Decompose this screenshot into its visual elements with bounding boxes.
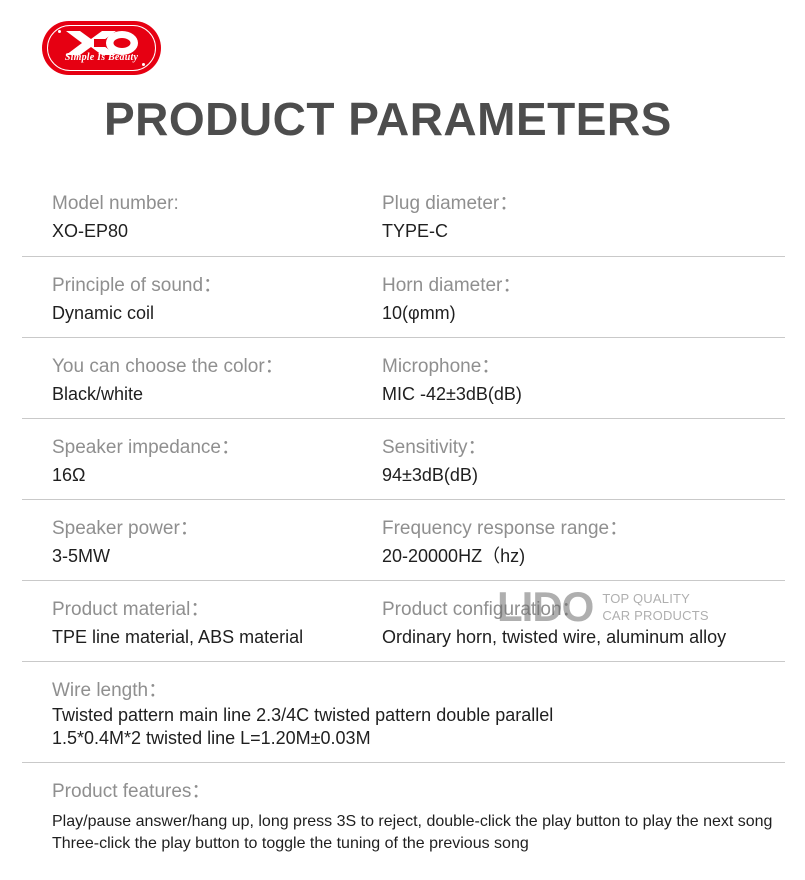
product-features-line-2: Three-click the play button to toggle th… xyxy=(52,833,785,855)
spec-label: Sensitivity： xyxy=(382,435,487,461)
spec-label: Frequency response range： xyxy=(382,516,628,542)
specifications-table: Model number: XO-EP80 Plug diameter： TYP… xyxy=(22,175,785,867)
spec-value: 10(φmm) xyxy=(382,299,521,327)
product-features-row: Product features： Play/pause answer/hang… xyxy=(22,762,785,867)
spec-value: 20-20000HZ（hz) xyxy=(382,542,628,570)
spec-label: Speaker power： xyxy=(52,516,199,542)
spec-cell-left: Speaker power： 3-5MW xyxy=(52,516,199,570)
table-row: Model number: XO-EP80 Plug diameter： TYP… xyxy=(22,175,785,256)
logo-dot-bottom-right xyxy=(142,63,145,66)
wire-length-row: Wire length： Twisted pattern main line 2… xyxy=(22,661,785,762)
xo-brand-logo: Simple Is Beauty xyxy=(42,21,161,75)
spec-label: Model number: xyxy=(52,191,179,217)
spec-cell-left: You can choose the color： Black/white xyxy=(52,354,284,408)
spec-cell-right: Sensitivity： 94±3dB(dB) xyxy=(382,435,487,489)
spec-cell-right: Product configuration： Ordinary horn, tw… xyxy=(382,597,726,651)
spec-label: Microphone： xyxy=(382,354,522,380)
product-parameters-sheet: Simple Is Beauty PRODUCT PARAMETERS Mode… xyxy=(0,0,805,880)
spec-cell-left: Speaker impedance： 16Ω xyxy=(52,435,240,489)
spec-value: 3-5MW xyxy=(52,542,199,570)
spec-cell-left: Principle of sound： Dynamic coil xyxy=(52,273,222,327)
logo-tagline: Simple Is Beauty xyxy=(42,52,161,63)
spec-value: XO-EP80 xyxy=(52,217,179,245)
table-row: You can choose the color： Black/white Mi… xyxy=(22,337,785,418)
table-row: Speaker impedance： 16Ω Sensitivity： 94±3… xyxy=(22,418,785,499)
wire-length-label: Wire length： xyxy=(52,677,785,704)
table-row: Product material： TPE line material, ABS… xyxy=(22,580,785,661)
logo-dot-top-left xyxy=(58,30,61,33)
spec-cell-left: Product material： TPE line material, ABS… xyxy=(52,597,303,651)
spec-cell-right: Microphone： MIC -42±3dB(dB) xyxy=(382,354,522,408)
product-features-line-1: Play/pause answer/hang up, long press 3S… xyxy=(52,811,785,833)
product-features-label: Product features： xyxy=(52,778,785,805)
spec-value: Black/white xyxy=(52,380,284,408)
spec-label: Product configuration： xyxy=(382,597,726,623)
spec-value: Dynamic coil xyxy=(52,299,222,327)
page-title: PRODUCT PARAMETERS xyxy=(104,92,672,146)
spec-cell-left: Model number: XO-EP80 xyxy=(52,191,179,245)
spec-label: Plug diameter： xyxy=(382,191,518,217)
spec-cell-right: Horn diameter： 10(φmm) xyxy=(382,273,521,327)
spec-value: TPE line material, ABS material xyxy=(52,623,303,651)
spec-cell-right: Frequency response range： 20-20000HZ（hz) xyxy=(382,516,628,570)
table-row: Principle of sound： Dynamic coil Horn di… xyxy=(22,256,785,337)
spec-value: 16Ω xyxy=(52,461,240,489)
wire-length-line-1: Twisted pattern main line 2.3/4C twisted… xyxy=(52,704,785,727)
spec-value: MIC -42±3dB(dB) xyxy=(382,380,522,408)
spec-label: Speaker impedance： xyxy=(52,435,240,461)
spec-label: Product material： xyxy=(52,597,303,623)
spec-label: Principle of sound： xyxy=(52,273,222,299)
spec-label: You can choose the color： xyxy=(52,354,284,380)
spec-value: 94±3dB(dB) xyxy=(382,461,487,489)
table-row: Speaker power： 3-5MW Frequency response … xyxy=(22,499,785,580)
spec-cell-right: Plug diameter： TYPE-C xyxy=(382,191,518,245)
spec-value: Ordinary horn, twisted wire, aluminum al… xyxy=(382,623,726,651)
wire-length-line-2: 1.5*0.4M*2 twisted line L=1.20M±0.03M xyxy=(52,727,785,750)
spec-value: TYPE-C xyxy=(382,217,518,245)
spec-label: Horn diameter： xyxy=(382,273,521,299)
